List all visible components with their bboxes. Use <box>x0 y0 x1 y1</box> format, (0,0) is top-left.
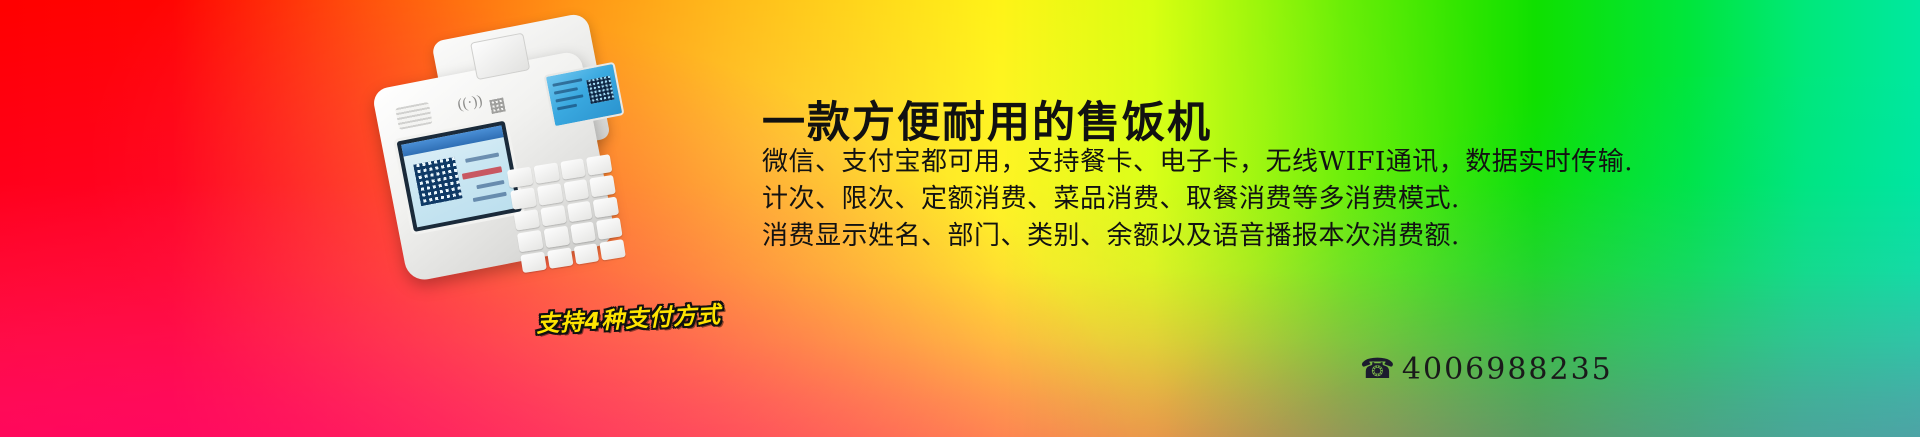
feature-line: 微信、支付宝都可用，支持餐卡、电子卡，无线WIFI通讯，数据实时传输. <box>762 144 1633 181</box>
screen-qr-code <box>413 157 462 206</box>
feature-line: 消费显示姓名、部门、类别、余额以及语音播报本次消费额. <box>762 218 1633 255</box>
page-title: 一款方便耐用的售饭机 <box>762 88 1212 150</box>
hotline: ☎ 4006988235 <box>1360 352 1613 387</box>
feature-line: 计次、限次、定额消费、菜品消费、取餐消费等多消费模式. <box>762 181 1633 218</box>
promo-banner: ((·)) <box>0 0 1920 437</box>
telephone-icon: ☎ <box>1360 356 1395 384</box>
feature-description: 微信、支付宝都可用，支持餐卡、电子卡，无线WIFI通讯，数据实时传输. 计次、限… <box>762 144 1633 255</box>
meal-terminal-device: ((·)) <box>353 0 703 334</box>
lcd-qr-code <box>586 76 614 104</box>
qr-scan-icon <box>489 98 505 114</box>
numeric-keypad <box>507 154 626 273</box>
hotline-number: 4006988235 <box>1402 352 1613 387</box>
nfc-wave-icon: ((·)) <box>456 93 479 114</box>
product-image: ((·)) <box>378 18 678 308</box>
